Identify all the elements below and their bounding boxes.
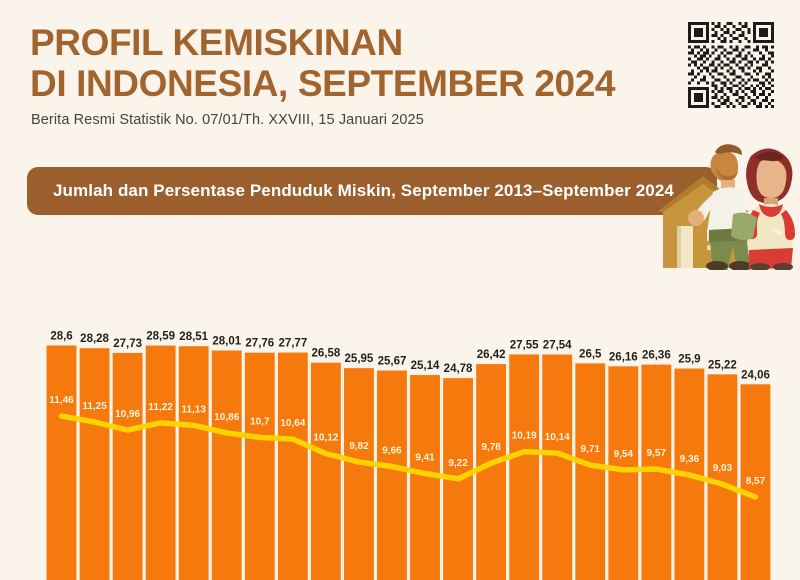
bar[interactable] (80, 348, 110, 580)
pct-value-label: 9,71 (581, 444, 601, 455)
bar[interactable] (179, 346, 209, 580)
poverty-chart: 11,4611,2510,9611,2211,1310,8610,710,641… (0, 250, 800, 580)
bar[interactable] (608, 366, 638, 580)
bar-value-label: 25,9 (678, 354, 700, 366)
pct-value-label: 9,78 (481, 442, 501, 453)
bar-value-label: 27,55 (510, 339, 539, 351)
bar-value-label: 26,5 (579, 348, 602, 360)
bar-value-label: 24,78 (444, 363, 473, 375)
bar[interactable] (245, 353, 275, 580)
bar-value-label: 28,28 (80, 333, 109, 345)
pct-value-label: 10,14 (545, 432, 570, 443)
bar-value-label: 24,06 (741, 369, 770, 381)
pct-value-label: 10,19 (512, 431, 537, 442)
bar[interactable] (476, 364, 506, 580)
bar[interactable] (47, 345, 77, 580)
bar-value-label: 27,54 (543, 340, 572, 352)
chart-title-banner: Jumlah dan Persentase Penduduk Miskin, S… (27, 167, 717, 215)
bar[interactable] (509, 354, 539, 580)
bar[interactable] (212, 351, 242, 580)
page-title-line1: PROFIL KEMISKINAN (30, 22, 403, 63)
pct-value-label: 10,64 (280, 418, 305, 429)
bar-value-label: 26,42 (477, 349, 506, 361)
bar-value-label: 25,67 (378, 356, 407, 368)
bar[interactable] (311, 363, 341, 580)
pct-value-label: 11,13 (181, 404, 206, 415)
pct-value-label: 11,46 (49, 395, 74, 406)
bar-value-label: 25,14 (411, 360, 440, 372)
bar-value-label: 28,51 (179, 331, 208, 343)
bar-value-label: 26,16 (609, 351, 638, 363)
pct-value-label: 9,57 (647, 448, 667, 459)
pct-value-label: 9,41 (415, 453, 435, 464)
bar[interactable] (344, 368, 374, 580)
bar-value-label: 28,6 (50, 330, 72, 342)
pct-value-label: 10,86 (214, 412, 239, 423)
bar-group (47, 345, 771, 580)
bar-value-label: 28,59 (146, 331, 175, 343)
pct-value-label: 9,82 (349, 441, 369, 452)
page-title-line2: DI INDONESIA, SEPTEMBER 2024 (30, 63, 670, 104)
report-subtitle: Berita Resmi Statistik No. 07/01/Th. XXV… (31, 112, 424, 128)
bar-value-label: 26,58 (311, 348, 340, 360)
bar-value-label: 27,77 (278, 338, 307, 350)
bar-value-label: 27,76 (245, 338, 274, 350)
bar[interactable] (542, 355, 572, 580)
pct-value-label: 11,22 (148, 402, 173, 413)
bar[interactable] (377, 371, 407, 580)
bar[interactable] (575, 363, 605, 580)
bar-value-label: 27,73 (113, 338, 142, 350)
pct-value-label: 9,22 (448, 458, 468, 469)
bar[interactable] (278, 353, 308, 580)
bar-value-label: 25,95 (345, 353, 374, 365)
page-title: PROFIL KEMISKINAN DI INDONESIA, SEPTEMBE… (30, 22, 670, 105)
pct-value-label: 8,57 (746, 476, 766, 487)
qr-code-icon[interactable] (683, 22, 779, 108)
bar[interactable] (113, 353, 143, 580)
bar-value-label: 26,36 (642, 350, 671, 362)
pct-value-label: 10,96 (115, 409, 140, 420)
pct-value-label: 10,12 (313, 433, 338, 444)
bar[interactable] (708, 374, 738, 580)
pct-value-label: 10,7 (250, 416, 270, 427)
pct-value-label: 9,54 (614, 449, 634, 460)
chart-title-text: Jumlah dan Persentase Penduduk Miskin, S… (27, 181, 674, 201)
couple-and-house-illustration (655, 118, 800, 270)
bar[interactable] (146, 346, 176, 580)
pct-value-label: 11,25 (82, 401, 107, 412)
pct-value-label: 9,03 (713, 463, 733, 474)
bar-value-label: 25,22 (708, 359, 737, 371)
bar-value-label: 28,01 (212, 336, 241, 348)
pct-value-label: 9,36 (680, 454, 700, 465)
infographic-page: PROFIL KEMISKINAN DI INDONESIA, SEPTEMBE… (0, 0, 800, 580)
pct-value-label: 9,66 (382, 446, 402, 457)
